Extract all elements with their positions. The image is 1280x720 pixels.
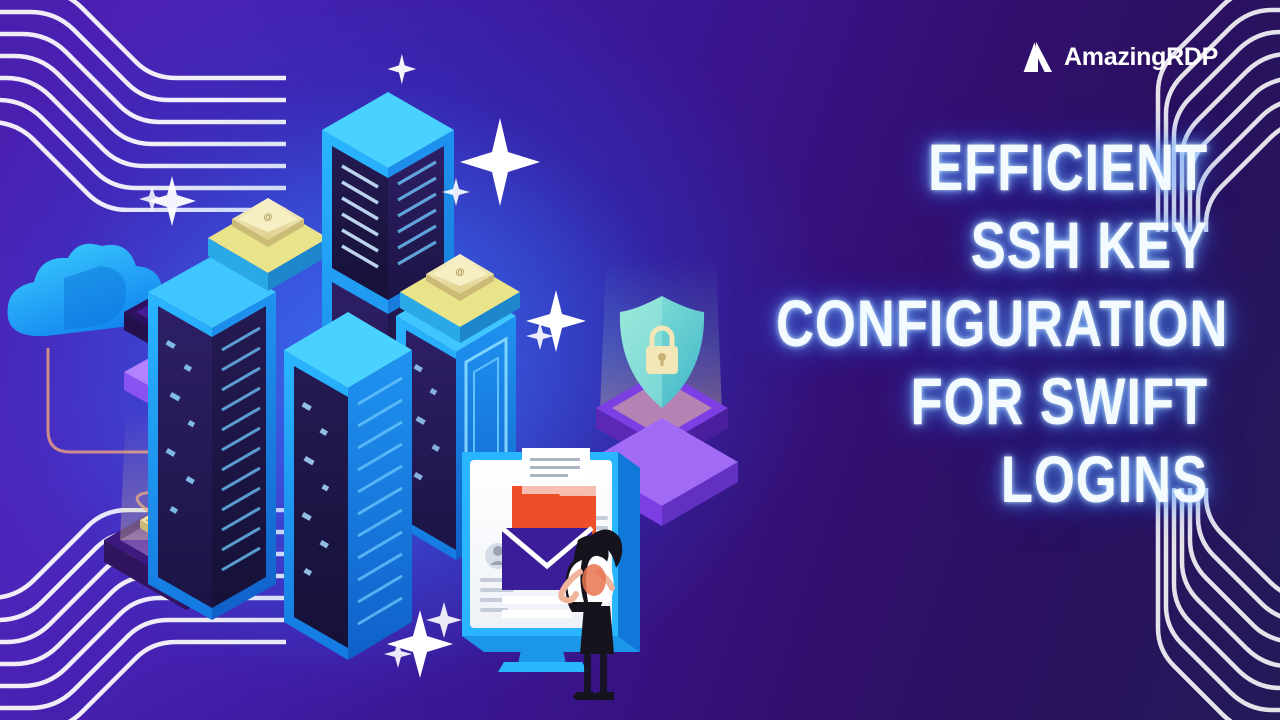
svg-text:@: @	[263, 212, 272, 222]
title-line-1: EFFICIENT	[776, 128, 1208, 206]
title-line-2: SSH KEY	[776, 206, 1208, 284]
circuit-decoration-bottom-right	[1092, 488, 1280, 720]
title-line-5: LOGINS	[776, 440, 1208, 518]
brand-name: AmazingRDP	[1064, 43, 1218, 72]
title-line-4: FOR SWIFT	[776, 362, 1208, 440]
title-line-3: CONFIGURATION	[776, 284, 1208, 362]
monitor-screen	[462, 448, 640, 672]
server-tower-left	[148, 256, 276, 620]
page-title: EFFICIENT SSH KEY CONFIGURATION FOR SWIF…	[668, 128, 1208, 518]
server-tower-front	[284, 312, 412, 660]
amazingrdp-a-mark-icon	[1023, 41, 1053, 73]
svg-text:@: @	[455, 267, 464, 277]
brand-logo[interactable]: AmazingRDP	[1023, 41, 1218, 73]
banner-root: @	[0, 0, 1280, 720]
